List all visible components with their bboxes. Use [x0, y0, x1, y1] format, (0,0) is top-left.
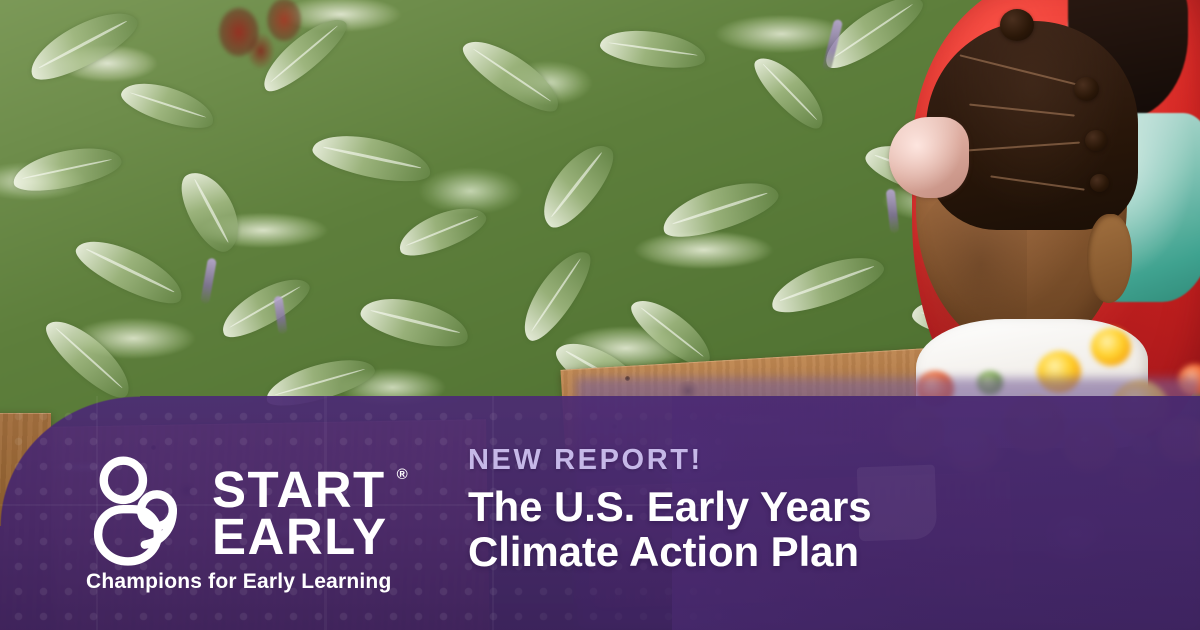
- start-early-parent-child-mark: [86, 456, 198, 568]
- social-share-card: START® EARLY Champions for Early Learnin…: [0, 0, 1200, 630]
- registered-trademark-icon: ®: [397, 468, 408, 482]
- logo-word-start: START®: [212, 466, 406, 513]
- logo-wordmark: START® EARLY: [212, 456, 406, 561]
- burgundy-plant: [180, 0, 348, 69]
- child-ear: [1087, 214, 1132, 303]
- headline-block: NEW REPORT! The U.S. Early Years Climate…: [468, 446, 871, 575]
- headline-line-2: Climate Action Plan: [468, 529, 871, 574]
- logo-tagline: Champions for Early Learning: [86, 570, 392, 594]
- start-early-logo[interactable]: START® EARLY: [86, 456, 406, 568]
- logo-word-early: EARLY: [212, 513, 406, 560]
- eyebrow-label: NEW REPORT!: [468, 446, 871, 475]
- hair-bow: [889, 117, 968, 198]
- headline-line-1: The U.S. Early Years: [468, 484, 871, 529]
